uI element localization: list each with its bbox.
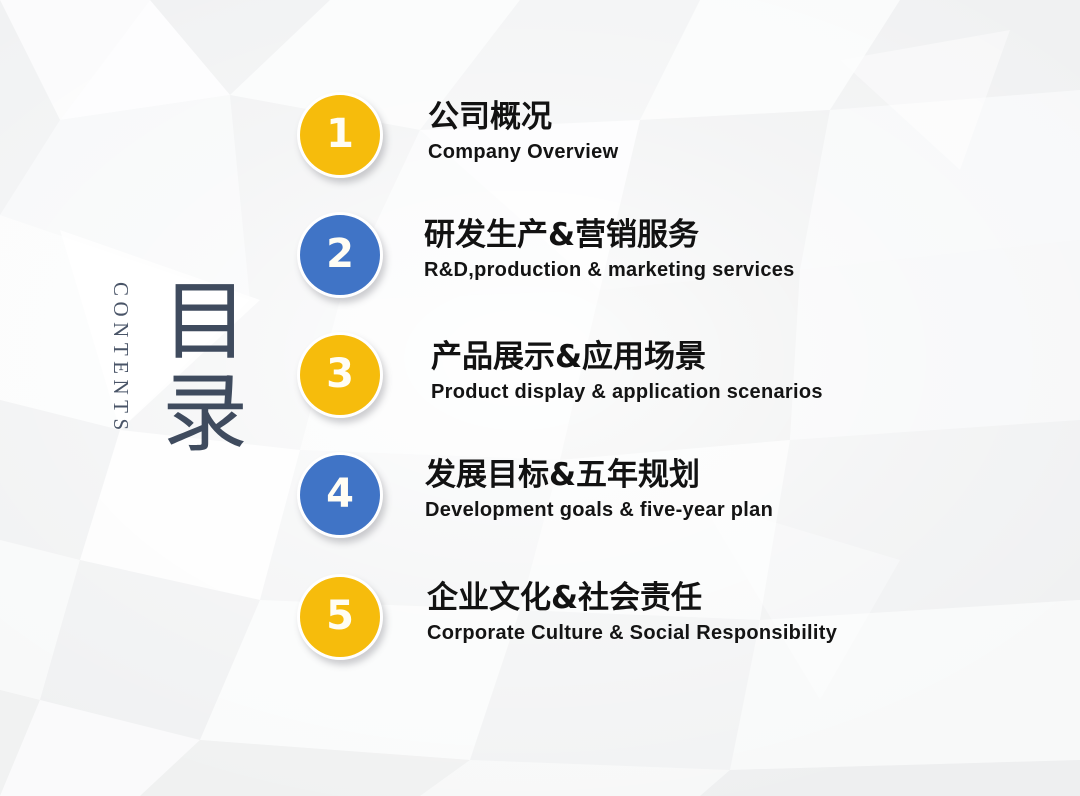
agenda-title-cjk-1: 公司概况 xyxy=(428,97,618,137)
agenda-title-en-5: Corporate Culture & Social Responsibilit… xyxy=(427,619,837,647)
agenda-number-3: 3 xyxy=(326,354,354,394)
agenda-title-cjk-2: 研发生产&营销服务 xyxy=(424,215,795,255)
agenda-text-1: 公司概况 Company Overview xyxy=(428,97,618,166)
agenda-text-3: 产品展示&应用场景 Product display & application … xyxy=(431,337,823,406)
agenda-title-cjk-5: 企业文化&社会责任 xyxy=(427,578,837,618)
agenda-title-en-3: Product display & application scenarios xyxy=(431,378,823,406)
agenda-number-2: 2 xyxy=(326,234,354,274)
agenda-title-cjk-4: 发展目标&五年规划 xyxy=(425,455,773,495)
contents-cjk-char-1: 目 xyxy=(162,276,262,368)
agenda-text-2: 研发生产&营销服务 R&D,production & marketing ser… xyxy=(424,215,795,284)
contents-heading: CONTENTS 目 录 xyxy=(104,282,274,482)
agenda-title-cjk-3: 产品展示&应用场景 xyxy=(431,337,823,377)
contents-cjk-char-2: 录 xyxy=(162,368,262,460)
agenda-number-5: 5 xyxy=(326,596,354,636)
agenda-number-badge-2[interactable]: 2 xyxy=(297,212,383,298)
agenda-number-badge-4[interactable]: 4 xyxy=(297,452,383,538)
agenda-title-en-4: Development goals & five-year plan xyxy=(425,496,773,524)
agenda-number-1: 1 xyxy=(326,114,354,154)
agenda-item-3[interactable]: 3 产品展示&应用场景 Product display & applicatio… xyxy=(297,332,1057,452)
table-of-contents-slide: CONTENTS 目 录 1 公司概况 Company Overview 2 研… xyxy=(0,0,1080,796)
contents-latin-label: CONTENTS xyxy=(106,282,136,482)
agenda-item-4[interactable]: 4 发展目标&五年规划 Development goals & five-yea… xyxy=(297,452,1057,572)
agenda-number-badge-3[interactable]: 3 xyxy=(297,332,383,418)
contents-cjk-label: 目 录 xyxy=(162,276,262,460)
agenda-number-4: 4 xyxy=(326,474,354,514)
agenda-number-badge-1[interactable]: 1 xyxy=(297,92,383,178)
agenda-number-badge-5[interactable]: 5 xyxy=(297,574,383,660)
agenda-list: 1 公司概况 Company Overview 2 研发生产&营销服务 R&D,… xyxy=(297,92,1057,692)
agenda-text-4: 发展目标&五年规划 Development goals & five-year … xyxy=(425,455,773,524)
agenda-title-en-2: R&D,production & marketing services xyxy=(424,256,795,284)
agenda-item-2[interactable]: 2 研发生产&营销服务 R&D,production & marketing s… xyxy=(297,212,1057,332)
agenda-item-1[interactable]: 1 公司概况 Company Overview xyxy=(297,92,1057,212)
agenda-title-en-1: Company Overview xyxy=(428,138,618,166)
agenda-text-5: 企业文化&社会责任 Corporate Culture & Social Res… xyxy=(427,578,837,647)
agenda-item-5[interactable]: 5 企业文化&社会责任 Corporate Culture & Social R… xyxy=(297,572,1057,692)
